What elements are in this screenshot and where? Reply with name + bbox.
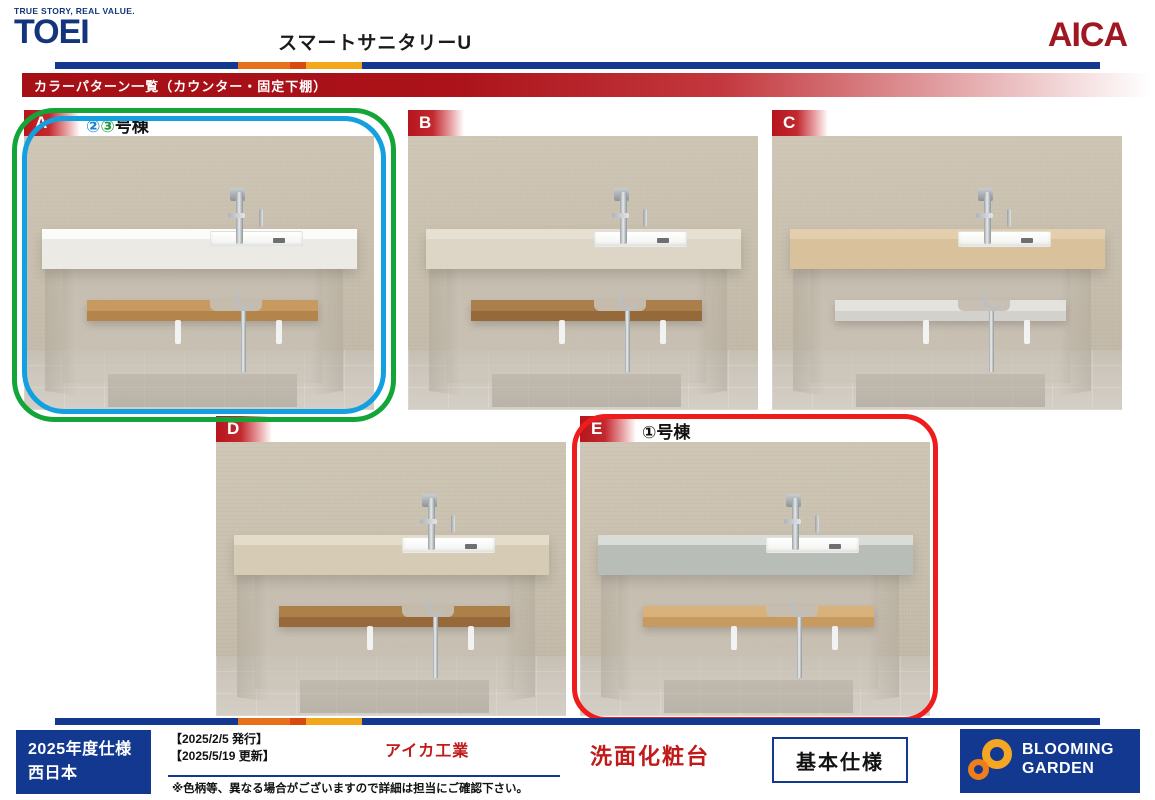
popup-rod xyxy=(259,209,263,227)
drain-icon xyxy=(657,238,669,243)
floor-mat xyxy=(108,374,297,407)
footer-note: ※色柄等、異なる場合がございますので詳細は担当にご確認下さい。 xyxy=(172,780,528,796)
panel-a[interactable]: A②③号棟 xyxy=(24,110,374,410)
product-name: 洗面化粧台 xyxy=(590,739,710,771)
deco-seg-red xyxy=(290,718,306,725)
faucet-lever xyxy=(976,213,993,218)
wash-basin xyxy=(594,231,687,247)
supply-pipe-right xyxy=(276,320,282,345)
drain-icon xyxy=(273,238,285,243)
panel-note-e: ①号棟 xyxy=(642,418,690,443)
spec-year-badge: 2025年度仕様 西日本 xyxy=(16,730,151,794)
page-header: TRUE STORY, REAL VALUE. TOEI スマートサニタリーU … xyxy=(0,0,1155,60)
supply-pipe-right xyxy=(660,320,666,345)
drain-pipe xyxy=(433,617,438,677)
deco-seg-orange xyxy=(238,62,290,69)
developer-line-2: GARDEN xyxy=(1022,759,1114,778)
faucet-neck xyxy=(984,192,991,244)
panel-render-d xyxy=(216,442,566,716)
issue-date: 【2025/2/5 発行】 xyxy=(170,731,275,748)
deco-seg-orange xyxy=(238,718,290,725)
supply-pipe-right xyxy=(468,626,474,651)
note-mark: ② xyxy=(86,117,100,136)
drain-icon xyxy=(1021,238,1033,243)
drain-pipe xyxy=(989,311,994,371)
page-footer: 2025年度仕様 西日本 【2025/2/5 発行】 【2025/5/19 更新… xyxy=(0,727,1155,800)
update-date: 【2025/5/19 更新】 xyxy=(170,748,275,765)
panel-note-a: ②③号棟 xyxy=(86,112,149,137)
panel-d[interactable]: D xyxy=(216,416,566,716)
note-suffix: 号棟 xyxy=(115,117,149,136)
walnut-wood-shelf xyxy=(471,300,702,321)
wash-basin xyxy=(210,231,303,247)
floor-mat xyxy=(856,374,1045,407)
panel-e[interactable]: E①号棟 xyxy=(580,416,930,716)
note-mark: ① xyxy=(642,423,656,442)
supply-pipe-left xyxy=(731,626,737,651)
speckled-beige-counter xyxy=(234,535,549,575)
aica-logo: AICA xyxy=(1048,18,1127,52)
supply-pipe-left xyxy=(923,320,929,345)
supply-pipe-right xyxy=(1024,320,1030,345)
spec-kind-badge: 基本仕様 xyxy=(772,737,908,783)
popup-rod xyxy=(451,515,455,533)
grey-concrete-counter xyxy=(598,535,913,575)
deco-seg-amber xyxy=(306,718,362,725)
drain-icon xyxy=(829,544,841,549)
wash-basin xyxy=(766,537,859,553)
faucet-lever xyxy=(784,519,801,524)
supply-pipe-left xyxy=(367,626,373,651)
blooming-garden-logo: BLOOMING GARDEN xyxy=(960,729,1140,793)
deco-seg-navy-2 xyxy=(362,62,1100,69)
developer-line-1: BLOOMING xyxy=(1022,740,1114,759)
popup-rod xyxy=(815,515,819,533)
deco-seg-navy-1 xyxy=(55,62,238,69)
faucet-neck xyxy=(792,498,799,550)
wash-basin xyxy=(402,537,495,553)
slide-page: TRUE STORY, REAL VALUE. TOEI スマートサニタリーU … xyxy=(0,0,1155,800)
panel-letter-e: E xyxy=(580,416,636,442)
walnut-wood-shelf xyxy=(279,606,510,627)
faucet-neck xyxy=(620,192,627,244)
floor-mat xyxy=(664,680,853,713)
grey-stone-shelf xyxy=(835,300,1066,321)
panel-letter-a: A xyxy=(24,110,80,136)
page-title: スマートサニタリーU xyxy=(278,28,472,55)
faucet-lever xyxy=(612,213,629,218)
section-banner-label: カラーパターン一覧（カウンター・固定下棚） xyxy=(34,76,327,95)
deco-seg-amber xyxy=(306,62,362,69)
note-suffix: 号棟 xyxy=(656,423,690,442)
panel-render-e xyxy=(580,442,930,716)
spec-year-label: 2025年度仕様 xyxy=(28,738,151,762)
toei-logo: TRUE STORY, REAL VALUE. TOEI xyxy=(14,6,164,54)
natural-oak-shelf xyxy=(643,606,874,627)
drain-pipe xyxy=(797,617,802,677)
faucet-lever xyxy=(228,213,245,218)
deco-seg-navy-2 xyxy=(362,718,1100,725)
toei-wordmark: TOEI xyxy=(14,15,164,49)
drain-pipe xyxy=(625,311,630,371)
faucet-lever xyxy=(420,519,437,524)
panel-render-b xyxy=(408,136,758,410)
panel-c[interactable]: C xyxy=(772,110,1122,410)
deco-seg-red xyxy=(290,62,306,69)
floor-mat xyxy=(300,680,489,713)
supply-pipe-left xyxy=(559,320,565,345)
white-solid-counter xyxy=(42,229,357,269)
light-oak-counter xyxy=(790,229,1105,269)
drain-icon xyxy=(465,544,477,549)
faucet-neck xyxy=(236,192,243,244)
supply-pipe-right xyxy=(832,626,838,651)
blooming-garden-text: BLOOMING GARDEN xyxy=(1022,740,1114,778)
supply-pipe-left xyxy=(175,320,181,345)
note-mark: ③ xyxy=(100,117,114,136)
deco-seg-navy-1 xyxy=(55,718,238,725)
oak-wood-shelf xyxy=(87,300,318,321)
spec-region-label: 西日本 xyxy=(28,762,151,786)
panel-render-a xyxy=(24,136,374,410)
panel-letter-c: C xyxy=(772,110,828,136)
panel-letter-b: B xyxy=(408,110,464,136)
flower-ring-small-icon xyxy=(968,759,989,780)
panel-letter-d: D xyxy=(216,416,272,442)
popup-rod xyxy=(1007,209,1011,227)
drain-pipe xyxy=(241,311,246,371)
wash-basin xyxy=(958,231,1051,247)
deco-bar-bottom xyxy=(55,718,1100,725)
popup-rod xyxy=(643,209,647,227)
footer-divider xyxy=(168,775,560,777)
panel-render-c xyxy=(772,136,1122,410)
deco-bar-top xyxy=(55,62,1100,69)
floor-mat xyxy=(492,374,681,407)
panel-b[interactable]: B xyxy=(408,110,758,410)
issue-dates: 【2025/2/5 発行】 【2025/5/19 更新】 xyxy=(170,731,275,765)
maker-name: アイカ工業 xyxy=(385,737,469,761)
faucet-neck xyxy=(428,498,435,550)
beige-stone-counter xyxy=(426,229,741,269)
